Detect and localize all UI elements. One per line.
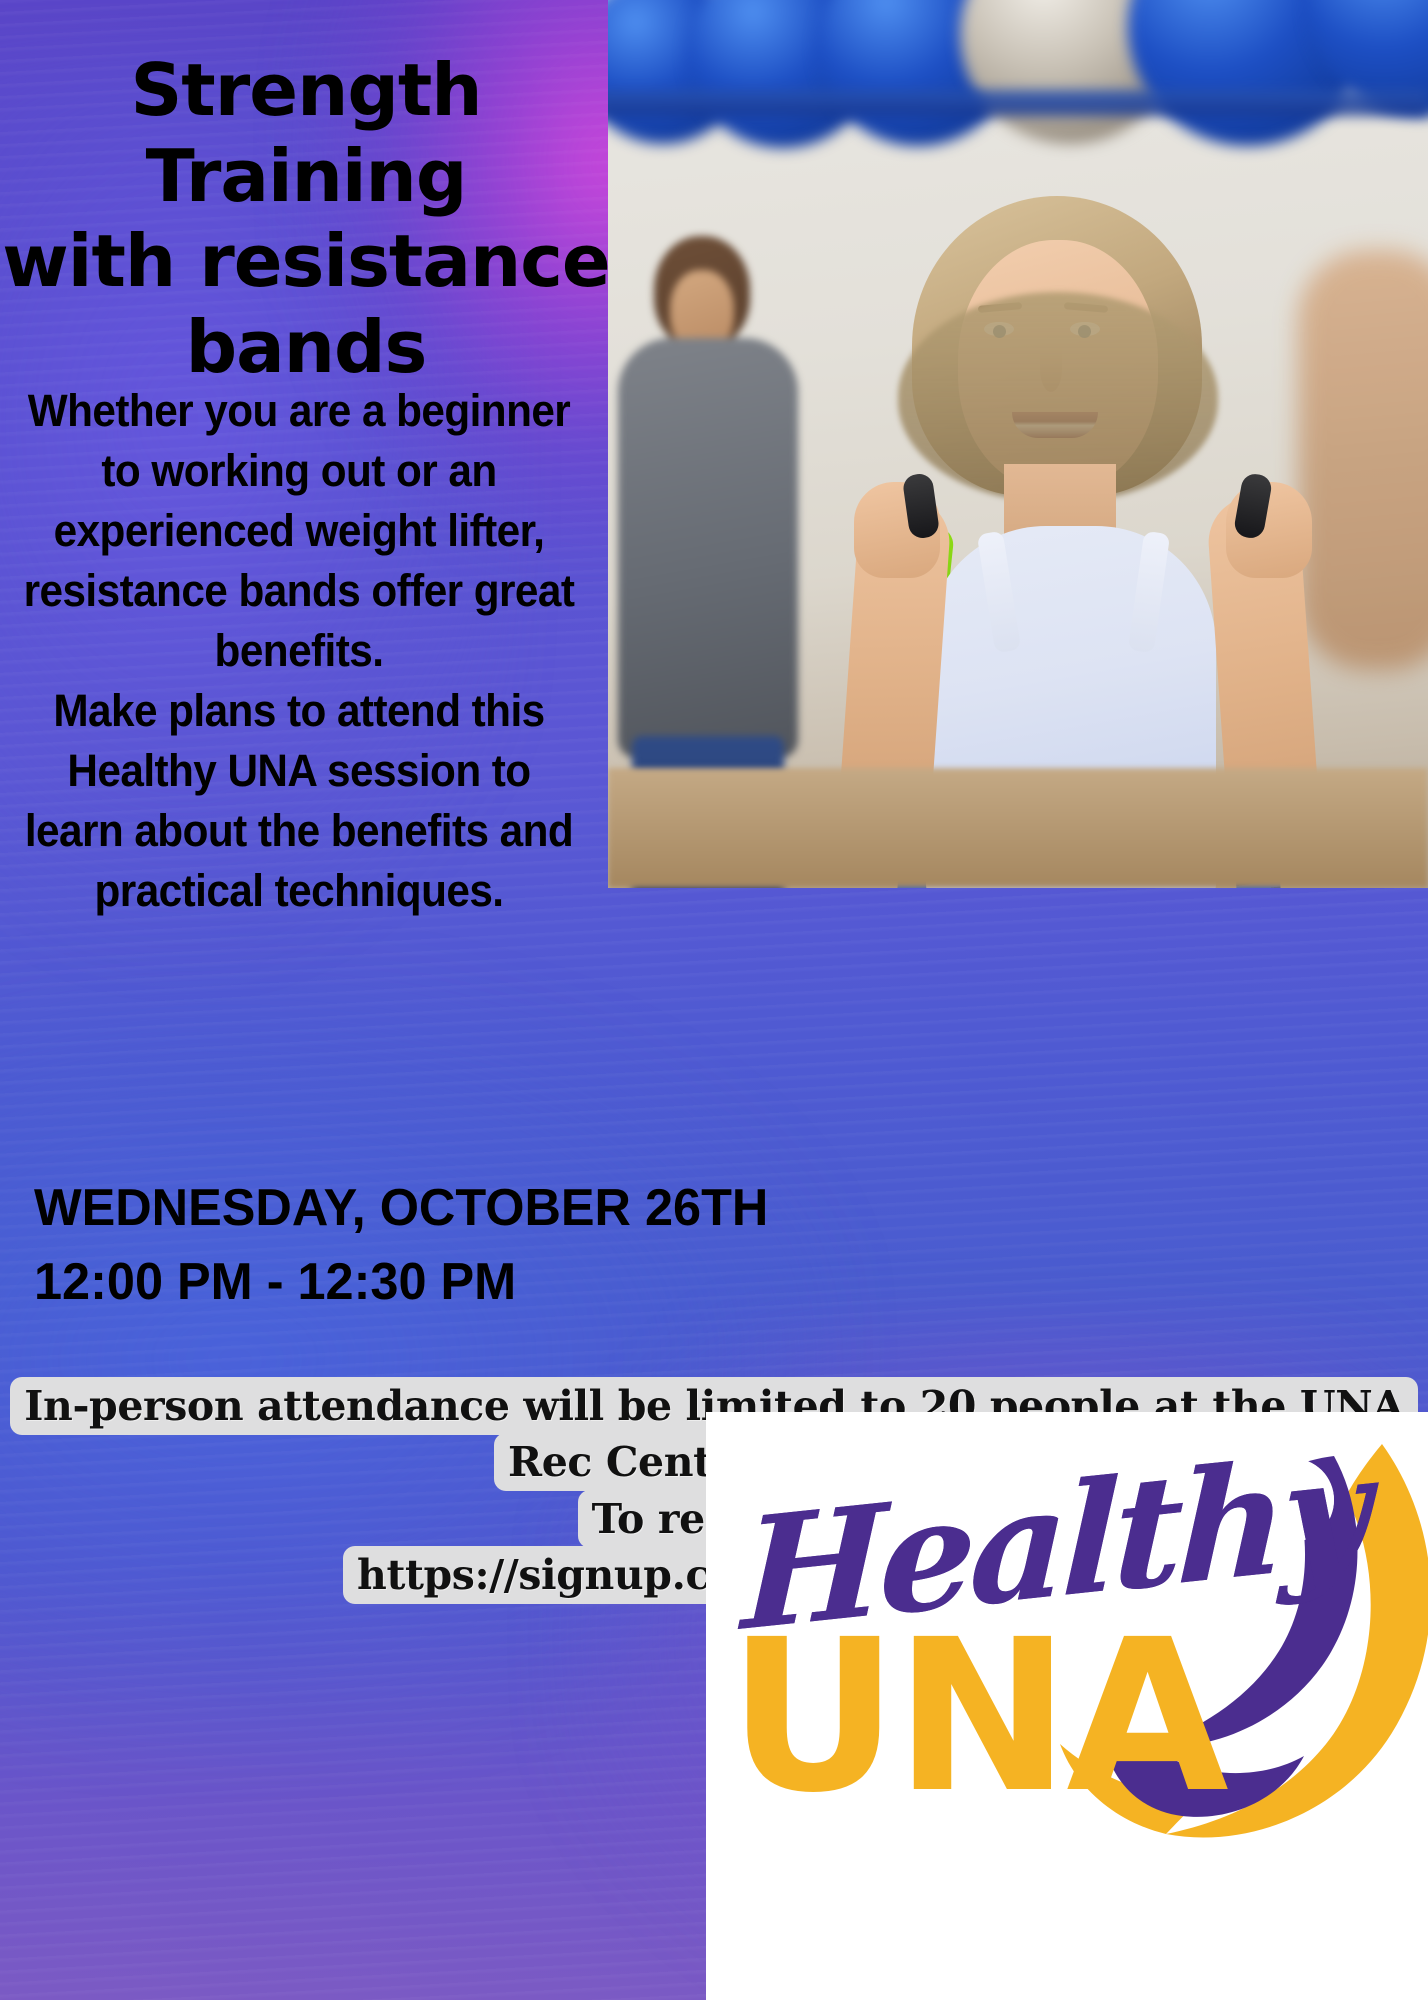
body-line-6: Make plans to attend this [18,682,580,740]
title-line-3: bands [0,305,612,391]
body-line-3: experienced weight lifter, [18,502,580,560]
event-datetime: WEDNESDAY, OCTOBER 26TH 12:00 PM - 12:30… [34,1172,829,1320]
body-line-1: Whether you are a beginner [18,382,580,440]
page-title: Strength Training with resistance bands [0,48,612,391]
logo-block-word: UNA [728,1612,1225,1822]
exercise-ball-rack [608,0,1428,190]
body-line-7: Healthy UNA session to [18,742,580,800]
event-date: WEDNESDAY, OCTOBER 26TH [34,1172,829,1246]
title-line-2: with resistance [0,219,612,305]
poster-root: Strength Training with resistance bands … [0,0,1428,2000]
title-line-1: Strength Training [0,48,612,219]
event-time: 12:00 PM - 12:30 PM [34,1246,829,1320]
body-line-8: learn about the benefits and [18,802,580,860]
healthy-una-logo: Healthy UNA [706,1412,1428,2000]
body-copy: Whether you are a beginner to working ou… [18,382,580,920]
gym-photo [608,0,1428,888]
photo-floor [608,768,1428,888]
body-line-9: practical techniques. [18,862,580,920]
body-line-2: to working out or an [18,442,580,500]
body-line-5: benefits. [18,622,580,680]
body-line-4: resistance bands offer great [18,562,580,620]
